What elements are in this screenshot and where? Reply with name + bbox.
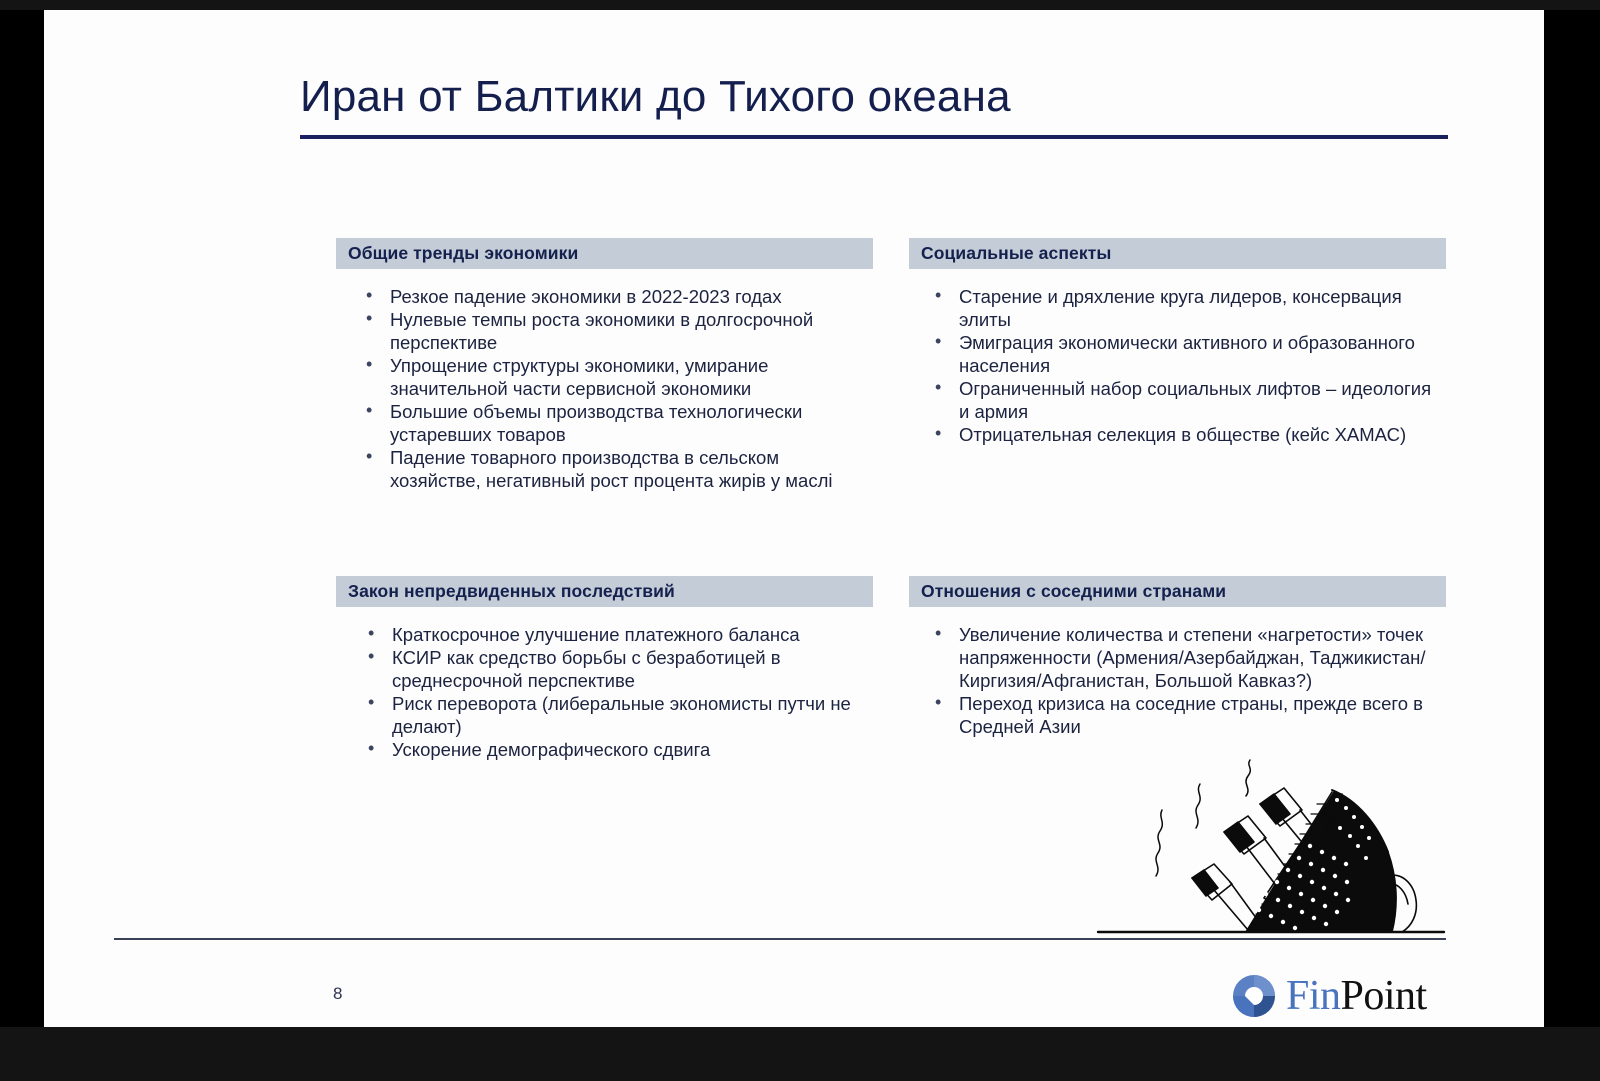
list-item: КСИР как средство борьбы с безработицей … (366, 646, 873, 692)
slide-canvas: Иран от Балтики до Тихого океана Общие т… (44, 10, 1544, 1027)
finpoint-logo: FinPoint (1232, 972, 1427, 1020)
panel-law-of-unintended-consequences: Закон непредвиденных последствий Краткос… (336, 576, 873, 761)
panel-body-social-aspects: Старение и дряхление круга лидеров, конс… (909, 269, 1446, 446)
letterbox-top (0, 0, 1600, 10)
letterbox-left (0, 10, 44, 1027)
letterbox-bottom (0, 1027, 1600, 1081)
list-item: Ограниченный набор социальных лифтов – и… (927, 377, 1446, 423)
bullet-list-law: Краткосрочное улучшение платежного балан… (336, 623, 873, 761)
panel-social-aspects: Социальные аспекты Старение и дряхление … (909, 238, 1446, 446)
title-block: Иран от Балтики до Тихого океана (300, 72, 1448, 139)
panel-header-label: Закон непредвиденных последствий (348, 581, 675, 602)
letterbox-right (1544, 10, 1600, 1027)
panel-body-law: Краткосрочное улучшение платежного балан… (336, 607, 873, 761)
list-item: Переход кризиса на соседние страны, преж… (927, 692, 1446, 738)
list-item: Ускорение демографического сдвига (366, 738, 873, 761)
logo-text-fin: Fin (1286, 973, 1341, 1019)
panel-header-law: Закон непредвиденных последствий (336, 576, 873, 607)
panel-relations-with-neighbors: Отношения с соседними странами Увеличени… (909, 576, 1446, 738)
screen: Иран от Балтики до Тихого океана Общие т… (0, 0, 1600, 1081)
sinking-ship-icon (1096, 758, 1446, 938)
list-item: Эмиграция экономически активного и образ… (927, 331, 1446, 377)
list-item: Старение и дряхление круга лидеров, конс… (927, 285, 1446, 331)
panel-body-economic-trends: Резкое падение экономики в 2022-2023 год… (336, 269, 873, 492)
logo-text-point: Point (1341, 973, 1427, 1019)
panel-body-neighbors: Увеличение количества и степени «нагрето… (909, 607, 1446, 738)
list-item: Краткосрочное улучшение платежного балан… (366, 623, 873, 646)
panel-header-neighbors: Отношения с соседними странами (909, 576, 1446, 607)
list-item: Большие объемы производства технологичес… (358, 400, 873, 446)
page-title: Иран от Балтики до Тихого океана (300, 72, 1448, 123)
page-number: 8 (333, 984, 342, 1004)
list-item: Увеличение количества и степени «нагрето… (927, 623, 1446, 692)
title-divider (300, 135, 1448, 139)
list-item: Падение товарного производства в сельско… (358, 446, 873, 492)
list-item: Упрощение структуры экономики, умирание … (358, 354, 873, 400)
logo-text: FinPoint (1286, 975, 1427, 1017)
finpoint-logo-mark (1232, 974, 1276, 1018)
panel-header-economic-trends: Общие тренды экономики (336, 238, 873, 269)
panel-economic-trends: Общие тренды экономики Резкое падение эк… (336, 238, 873, 492)
panel-header-label: Социальные аспекты (921, 243, 1111, 264)
footer-divider (114, 938, 1446, 940)
bullet-list-social-aspects: Старение и дряхление круга лидеров, конс… (909, 285, 1446, 446)
bullet-list-neighbors: Увеличение количества и степени «нагрето… (909, 623, 1446, 738)
list-item: Риск переворота (либеральные экономисты … (366, 692, 873, 738)
panel-header-social-aspects: Социальные аспекты (909, 238, 1446, 269)
bullet-list-economic-trends: Резкое падение экономики в 2022-2023 год… (336, 285, 873, 492)
list-item: Отрицательная селекция в обществе (кейс … (927, 423, 1446, 446)
panel-header-label: Общие тренды экономики (348, 243, 578, 264)
panel-header-label: Отношения с соседними странами (921, 581, 1226, 602)
list-item: Нулевые темпы роста экономики в долгосро… (358, 308, 873, 354)
list-item: Резкое падение экономики в 2022-2023 год… (358, 285, 873, 308)
